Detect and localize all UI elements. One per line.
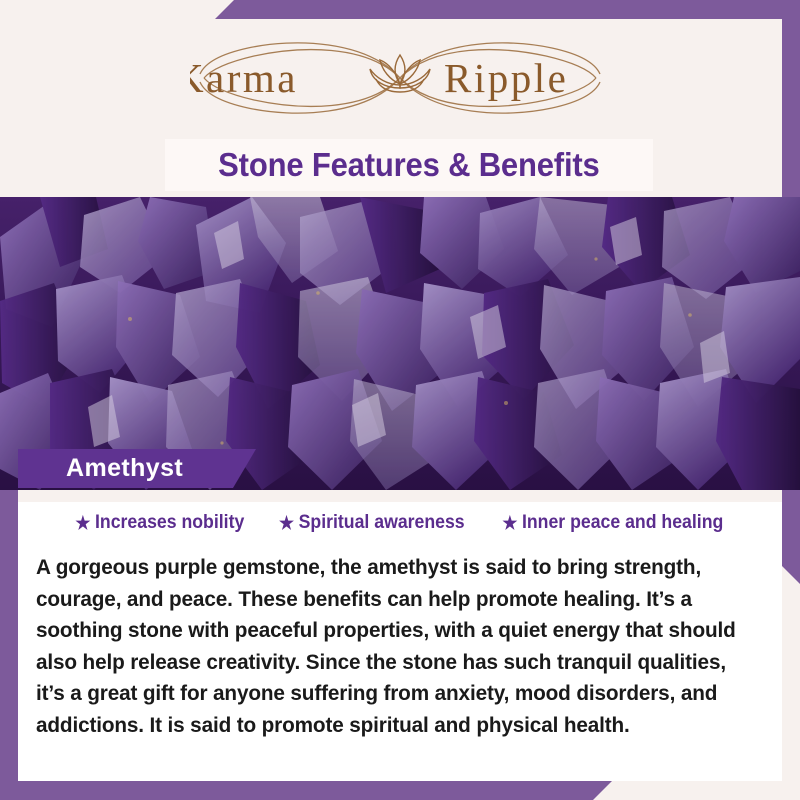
- panel-top-spacer: [18, 490, 782, 502]
- benefit-label: Increases nobility: [95, 512, 244, 534]
- benefits-list: ★ Increases nobility ★ Spiritual awarene…: [18, 512, 782, 534]
- brand-logo-svg: Karma Ripple: [190, 32, 610, 124]
- content-panel: ★ Increases nobility ★ Spiritual awarene…: [18, 490, 782, 781]
- amethyst-photo: [0, 197, 800, 490]
- benefit-label: Inner peace and healing: [522, 512, 723, 534]
- stone-description: A gorgeous purple gemstone, the amethyst…: [36, 552, 750, 741]
- star-icon: ★: [279, 514, 294, 532]
- page-title: Stone Features & Benefits: [218, 146, 599, 184]
- title-card: Stone Features & Benefits: [165, 139, 653, 191]
- brand-name-left: Karma: [190, 55, 298, 101]
- brand-logo: Karma Ripple: [18, 19, 782, 137]
- title-strip: Stone Features & Benefits: [18, 137, 782, 197]
- benefit-item-2: ★ Spiritual awareness: [279, 512, 465, 534]
- star-icon: ★: [502, 514, 517, 532]
- star-icon: ★: [75, 514, 90, 532]
- brand-name-right: Ripple: [444, 55, 568, 101]
- frame-band-bottom: [0, 781, 612, 800]
- header: Karma Ripple: [18, 19, 782, 137]
- benefit-label: Spiritual awareness: [299, 512, 465, 534]
- benefit-item-3: ★ Inner peace and healing: [502, 512, 723, 534]
- infographic-page: Karma Ripple Stone Features & Benefits: [0, 0, 800, 800]
- frame-band-left: [0, 490, 18, 800]
- amethyst-crystals-image: [0, 197, 800, 490]
- stone-name-label: Amethyst: [66, 454, 183, 483]
- frame-band-top: [215, 0, 800, 19]
- benefit-item-1: ★ Increases nobility: [75, 512, 244, 534]
- stone-name-banner: Amethyst: [18, 449, 256, 488]
